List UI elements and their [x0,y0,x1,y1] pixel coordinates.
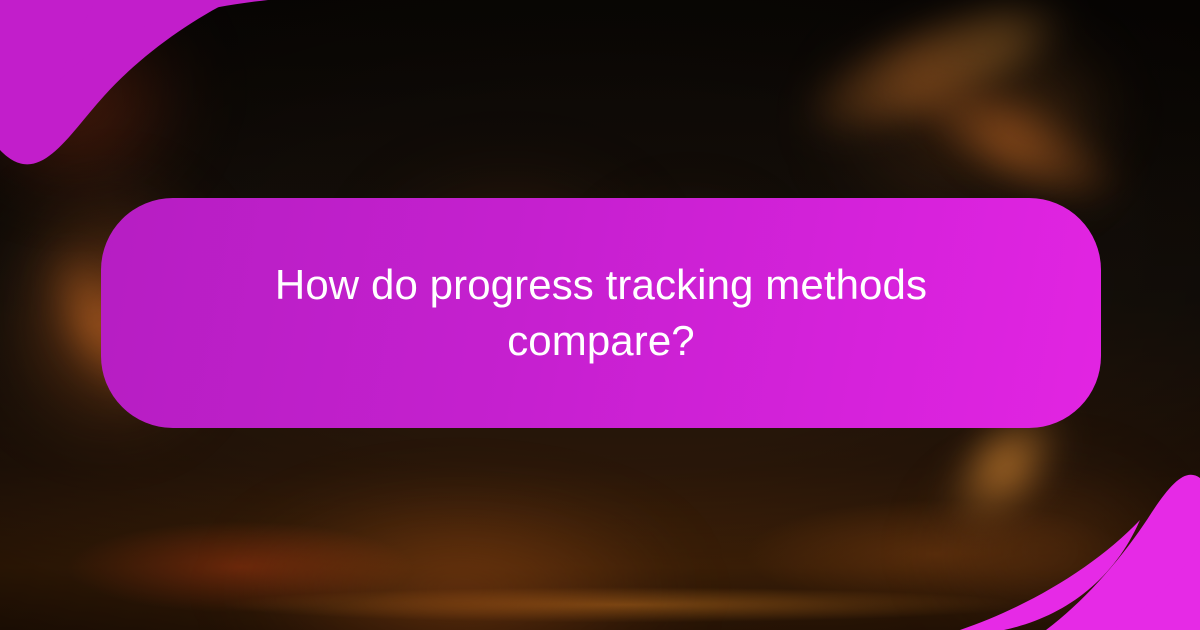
question-card[interactable]: How do progress tracking methods compare… [101,198,1101,428]
social-card-canvas: How do progress tracking methods compare… [0,0,1200,630]
question-text: How do progress tracking methods compare… [251,257,951,369]
